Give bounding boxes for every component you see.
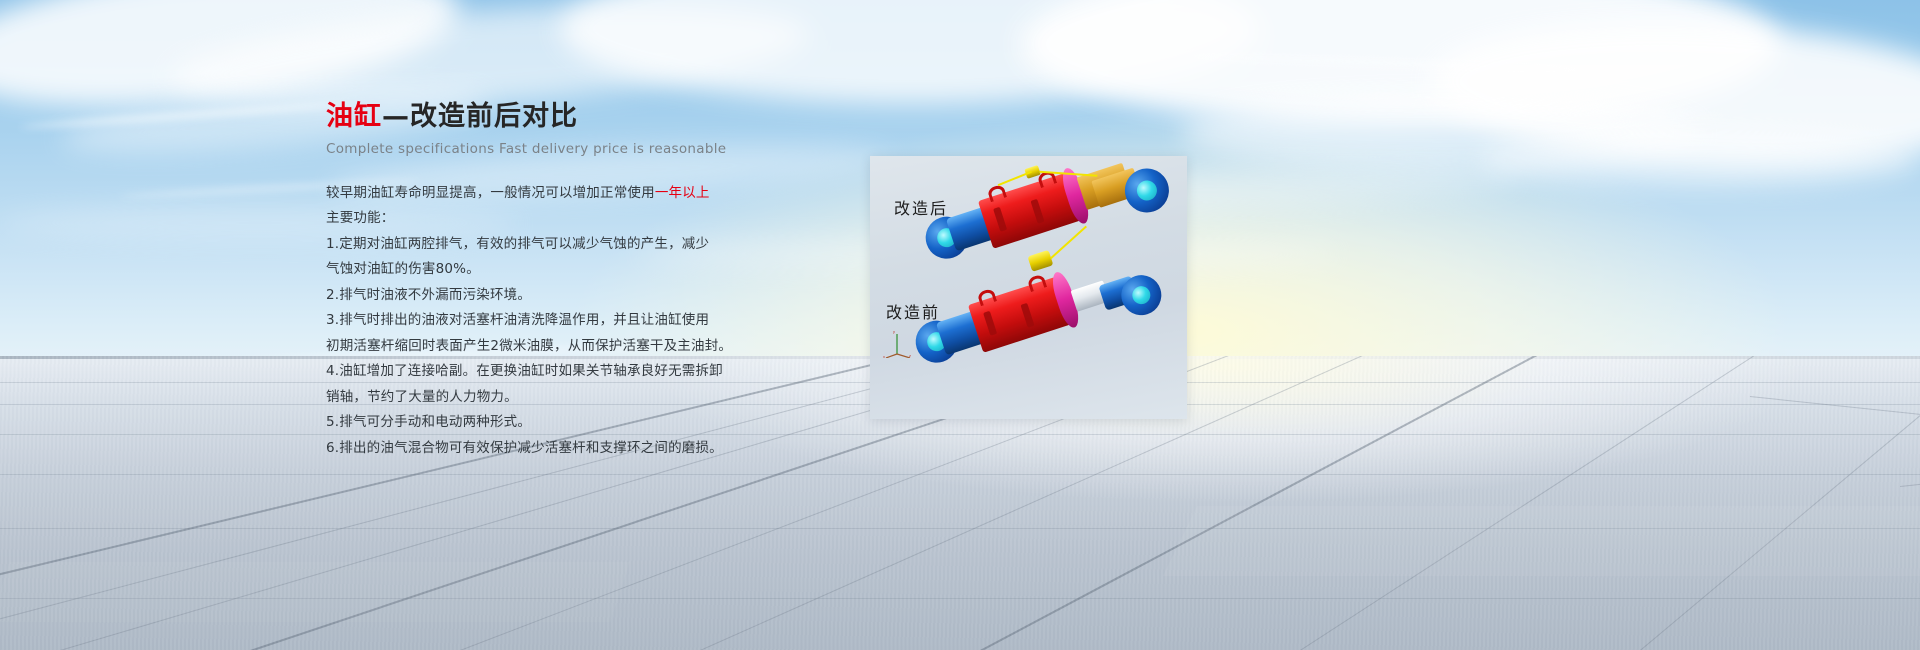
feature-line-text: 6.排出的油气混合物可有效保护减少活塞杆和支撑环之间的磨损。	[326, 440, 723, 456]
paving-perspective-line	[1300, 356, 1920, 650]
page-title-highlight: 油缸	[326, 101, 382, 132]
feature-line: 初期活塞杆缩回时表面产生2微米油膜，从而保护活塞干及主油封。	[326, 334, 746, 360]
paving-row-line	[0, 598, 1920, 599]
feature-line-text: 1.定期对油缸两腔排气，有效的排气可以减少气蚀的产生，减少	[326, 236, 709, 252]
barrel-rib	[983, 311, 997, 336]
feature-line: 2.排气时油液不外漏而污染环境。	[326, 283, 746, 309]
banner-content: 油缸—改造前后对比 Complete specifications Fast d…	[326, 102, 746, 461]
feature-line-text: 2.排气时油液不外漏而污染环境。	[326, 287, 531, 303]
breather-tubing	[998, 171, 1032, 186]
paving-row-line	[0, 528, 1920, 529]
svg-text:z: z	[909, 353, 911, 358]
product-image-panel: 改造后 改造前 y x z	[870, 156, 1187, 419]
cloud-shape	[1480, 132, 1920, 188]
feature-list: 较早期油缸寿命明显提高，一般情况可以增加正常使用一年以上 主要功能： 1.定期对…	[326, 181, 746, 462]
feature-line: 1.定期对油缸两腔排气，有效的排气可以减少气蚀的产生，减少	[326, 232, 746, 258]
coordinate-axis-icon: y x z	[883, 328, 913, 358]
eye-bore	[1130, 284, 1153, 307]
feature-line-text: 5.排气可分手动和电动两种形式。	[326, 414, 531, 430]
barrel-rib	[1020, 303, 1034, 328]
banner-stage: 油缸—改造前后对比 Complete specifications Fast d…	[0, 0, 1920, 650]
feature-line: 气蚀对油缸的伤害80%。	[326, 257, 746, 283]
feature-line: 4.油缸增加了连接哈副。在更换油缸时如果关节轴承良好无需拆卸	[326, 359, 746, 385]
feature-line-text: 4.油缸增加了连接哈副。在更换油缸时如果关节轴承良好无需拆卸	[326, 363, 723, 379]
paving-perspective-line	[1750, 396, 1920, 430]
feature-line: 主要功能：	[326, 206, 746, 232]
feature-line-highlight: 一年以上	[655, 185, 710, 201]
page-title-rest: —改造前后对比	[382, 101, 578, 132]
feature-line: 销轴，节约了大量的人力物力。	[326, 385, 746, 411]
feature-line-text: 气蚀对油缸的伤害80%。	[326, 261, 480, 277]
feature-line: 3.排气时排出的油液对活塞杆油清洗降温作用，并且让油缸使用	[326, 308, 746, 334]
paving-row-line	[0, 474, 1920, 475]
paving-perspective-line	[1900, 455, 1920, 487]
feature-line-text: 销轴，节约了大量的人力物力。	[326, 389, 518, 405]
feature-line-text: 初期活塞杆缩回时表面产生2微米油膜，从而保护活塞干及主油封。	[326, 338, 732, 354]
paving-perspective-line	[1640, 356, 1920, 650]
svg-text:y: y	[893, 329, 895, 334]
feature-line: 较早期油缸寿命明显提高，一般情况可以增加正常使用一年以上	[326, 181, 746, 207]
feature-line-text: 3.排气时排出的油液对活塞杆油清洗降温作用，并且让油缸使用	[326, 312, 709, 328]
page-title: 油缸—改造前后对比	[326, 102, 746, 132]
paving-slab	[1163, 506, 1920, 576]
barrel-rib	[993, 207, 1007, 232]
eye-bore	[1134, 178, 1159, 203]
page-subtitle: Complete specifications Fast delivery pr…	[326, 141, 746, 157]
paving-row-line	[0, 434, 1920, 435]
paving-slab	[0, 562, 630, 622]
feature-line: 5.排气可分手动和电动两种形式。	[326, 410, 746, 436]
svg-text:x: x	[883, 354, 885, 358]
feature-line: 6.排出的油气混合物可有效保护减少活塞杆和支撑环之间的磨损。	[326, 436, 746, 462]
barrel-rib	[1030, 199, 1044, 224]
feature-line-text: 较早期油缸寿命明显提高，一般情况可以增加正常使用	[326, 185, 655, 201]
feature-line-text: 主要功能：	[326, 210, 395, 226]
